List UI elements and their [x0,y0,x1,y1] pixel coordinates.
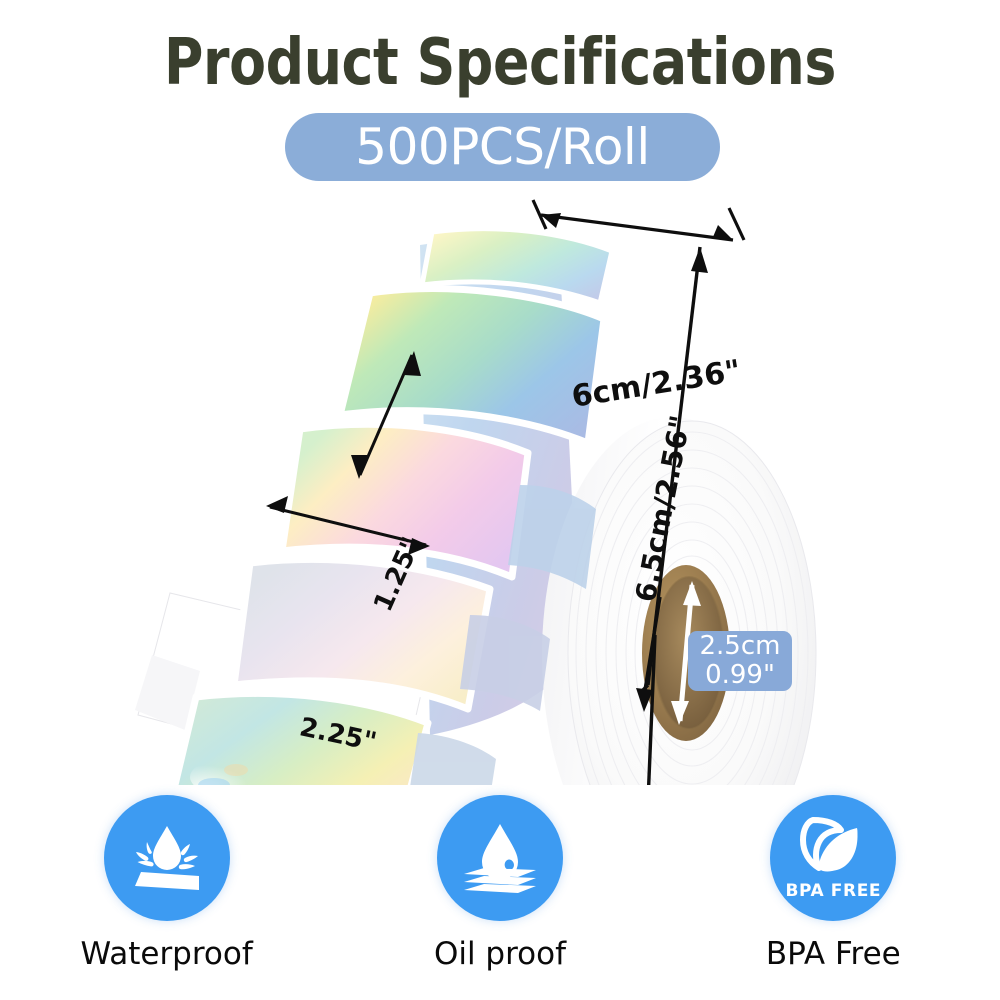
feature-oilproof: Oil proof [333,795,666,995]
feature-waterproof: Waterproof [0,795,333,995]
water-splash-icon [125,818,209,898]
quantity-badge-label: 500PCS/Roll [355,122,649,172]
core-diameter-cm: 2.5cm [700,632,781,661]
oilproof-icon-circle [437,795,563,921]
waterproof-icon-circle [104,795,230,921]
core-diameter-in: 0.99" [705,661,775,690]
page-title: Product Specifications [80,28,920,98]
oil-drop-sheets-icon [458,818,542,898]
feature-label-bpa-free: BPA Free [766,937,901,971]
feature-label-oilproof: Oil proof [434,937,566,971]
core-diameter-badge: 2.5cm 0.99" [688,631,792,691]
feature-row: Waterproof Oil proof [0,795,1000,995]
bpa-free-icon-circle: BPA FREE [770,795,896,921]
product-photo: 6cm/2.36" 6.5cm/2.56" 1.25" 2.25" 2.5cm … [0,185,1000,785]
bpa-free-inner-text: BPA FREE [770,881,896,901]
quantity-badge: 500PCS/Roll [285,113,720,181]
label-backing-strip [0,185,1000,785]
feature-bpa-free: BPA FREE BPA Free [667,795,1000,995]
feature-label-waterproof: Waterproof [81,937,253,971]
dimension-roll-width [533,200,744,240]
leaf-icon [793,814,873,880]
